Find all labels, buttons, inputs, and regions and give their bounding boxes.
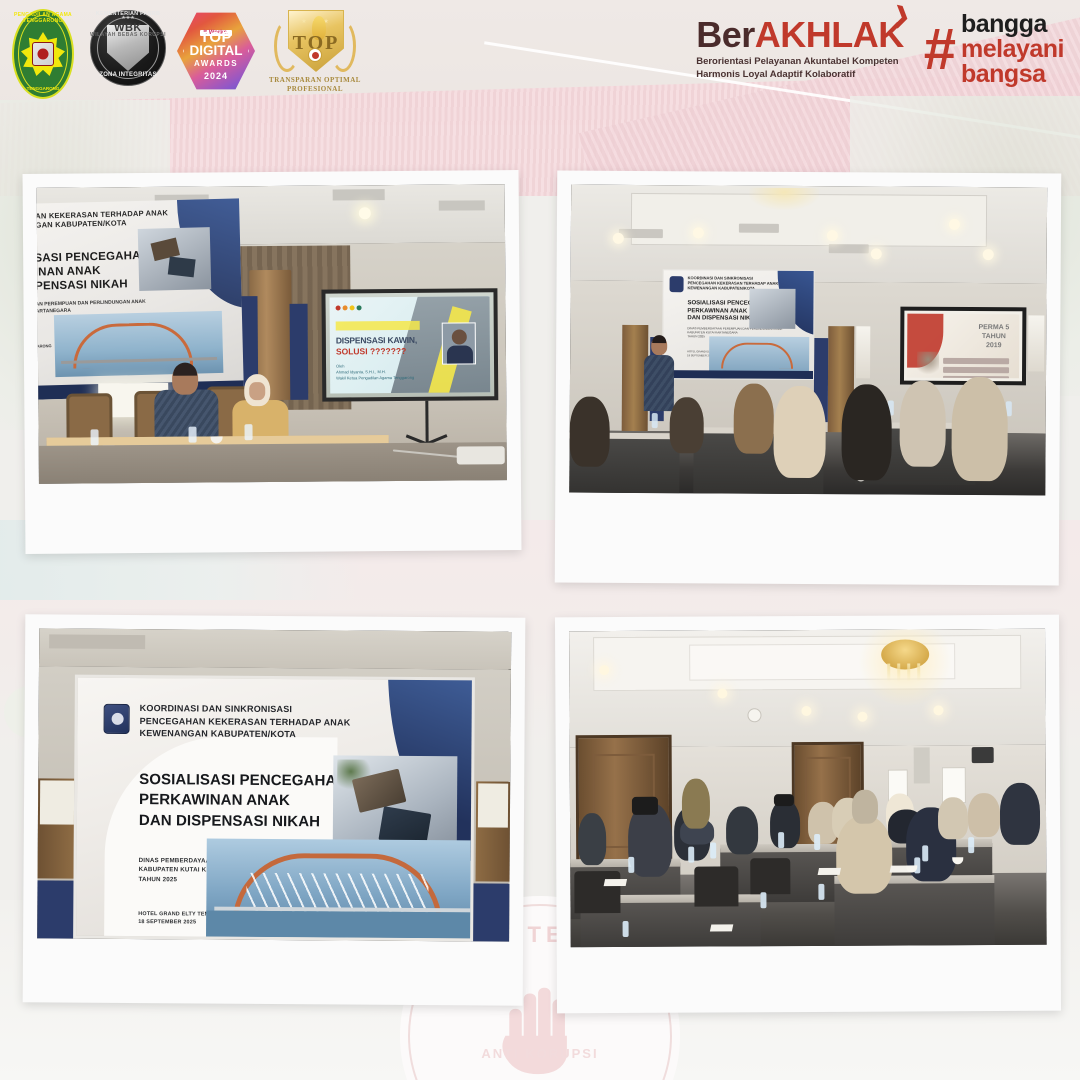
banner-title-main: SOSIALISASI PENCEGAHANPERKAWINAN ANAKDAN… — [139, 770, 347, 832]
ceiling-light — [599, 665, 609, 675]
award-line3: AWARDS — [174, 59, 258, 68]
slide-line2: TAHUN — [982, 333, 1006, 340]
slide-line1: PERMA 5 — [978, 324, 1009, 331]
ceiling-light — [359, 207, 371, 219]
top-digital-awards-badge: It Works. TOP DIGITAL AWARDS 2024 — [174, 8, 258, 100]
wall-speaker — [972, 747, 994, 763]
blue-panel-right — [471, 883, 509, 941]
emblem-bottom-text: TENGGARONG — [4, 86, 82, 91]
speaker-body — [644, 355, 674, 411]
attendee-seated — [951, 377, 1008, 481]
header-logo-bar: PENGADILAN AGAMA TENGGARONG TENGGARONG K… — [0, 0, 1080, 108]
berakhlak-logo: BerAKHLAK❯ Berorientasi Pelayanan Akunta… — [696, 17, 904, 82]
bangga-word2: melayani — [961, 37, 1064, 62]
ceiling-vent — [439, 200, 485, 210]
speaker-head — [172, 365, 198, 395]
ceiling-light — [933, 705, 943, 715]
water-bottle — [760, 892, 766, 908]
gold-sub-line2: PROFESIONAL — [262, 85, 368, 93]
side-light-left — [40, 780, 74, 824]
water-bottle — [688, 847, 694, 863]
ceiling-light — [949, 219, 960, 230]
standing-speaker — [644, 337, 674, 411]
presentation-slide: DISPENSASI KAWIN, SOLUSI ??????? OlehAhm… — [329, 296, 490, 393]
water-bottle — [710, 842, 716, 858]
attendee-seated — [938, 797, 968, 839]
emblem-top-text: PENGADILAN AGAMA TENGGARONG — [4, 12, 82, 24]
bangga-word3: bangsa — [961, 62, 1064, 87]
slide-scales-icon — [917, 352, 939, 378]
attendee-seated — [726, 806, 758, 854]
side-table-equipment — [457, 446, 505, 464]
paper-note — [710, 924, 733, 931]
banner-venue-text: ARONG — [37, 343, 52, 348]
water-bottle — [91, 429, 99, 445]
slide-bullet-bar — [943, 367, 1009, 373]
wbk-zona-integritas-badge: KEMENTERIAN PANRB ★★★ WBK WILAYAH BEBAS … — [86, 8, 170, 100]
slide-line1: DISPENSASI KAWIN, — [336, 335, 417, 346]
attendee-seated — [899, 381, 946, 467]
gold-sub-line1: TRANSPARAN OPTIMAL — [262, 76, 368, 84]
bridge-water — [206, 911, 470, 939]
attendee-seated — [852, 790, 878, 824]
slide-line3: 2019 — [986, 342, 1002, 349]
bangga-words: bangga melayani bangsa — [961, 12, 1064, 87]
ceiling-vent — [619, 229, 663, 238]
banner-document-photo — [138, 227, 212, 291]
water-bottle — [652, 413, 658, 428]
slide-bullet-bar — [943, 358, 1009, 364]
attendee-cap — [774, 794, 794, 806]
ceiling-light — [717, 688, 727, 698]
ceiling-light — [827, 230, 838, 241]
ceiling-vent — [829, 244, 869, 253]
award-line2: DIGITAL — [174, 44, 258, 58]
photo-1-backdrop-banner: AN KEKERASAN TERHADAP ANAKGAN KABUPATEN/… — [37, 198, 244, 399]
water-bottle — [968, 837, 974, 853]
banner-bridge-photo — [206, 839, 471, 939]
air-conditioner — [914, 747, 930, 783]
attendee-standing — [1000, 783, 1040, 845]
projector-screen: DISPENSASI KAWIN, SOLUSI ??????? OlehAhm… — [321, 288, 498, 401]
banner-book-2 — [168, 256, 196, 277]
wbk-center-sub: WILAYAH BEBAS KORUPSI — [86, 32, 170, 38]
attendee-seated — [578, 813, 606, 865]
slide-title: PERMA 5 TAHUN 2019 — [978, 324, 1009, 350]
slide-dot — [336, 305, 341, 310]
water-bottle — [189, 427, 197, 443]
attendee-seated — [773, 386, 826, 478]
emblem-center-crest — [32, 42, 54, 66]
photo-2-backdrop-banner: KOORDINASI DAN SINKRONISASIPENCEGAHAN KE… — [662, 269, 815, 380]
berakhlak-prefix: Ber — [696, 14, 755, 55]
chandelier-crystal — [897, 664, 900, 682]
paper-note — [604, 879, 627, 886]
water-bottle — [778, 832, 784, 848]
ceiling-vent — [739, 224, 779, 233]
ceiling-light — [801, 706, 811, 716]
window — [856, 326, 870, 378]
chandelier-glow — [749, 188, 819, 210]
projector-screen: PERMA 5 TAHUN 2019 — [900, 307, 1026, 386]
blue-panel-left — [37, 880, 75, 938]
chair — [694, 866, 738, 906]
award-year: 2024 — [174, 71, 258, 81]
photo-card-2[interactable]: KOORDINASI DAN SINKRONISASIPENCEGAHAN KE… — [555, 170, 1062, 585]
photo-card-3[interactable]: KOORDINASI DAN SINKRONISASIPENCEGAHAN KE… — [23, 614, 526, 1005]
chandelier — [869, 633, 941, 689]
chandelier-crystal — [907, 663, 910, 681]
ceiling-light — [871, 248, 882, 259]
moderator-face — [249, 382, 265, 400]
slide-presenter-photo — [442, 322, 476, 364]
berakhlak-main: AKHLAK — [755, 14, 904, 55]
attendee-seated — [770, 800, 800, 848]
water-bottle — [818, 884, 824, 900]
water-bottle — [814, 834, 820, 850]
photo-card-1[interactable]: AN KEKERASAN TERHADAP ANAKGAN KABUPATEN/… — [23, 170, 522, 554]
attendee-cap — [632, 797, 658, 815]
banner-title-main: SASI PENCEGAHANINAN ANAKPENSASI NIKAH — [37, 249, 150, 294]
banner-bottom-bar — [663, 370, 813, 379]
attendee-seated — [841, 384, 892, 480]
attendee-seated — [569, 397, 609, 467]
chandelier-crystal — [917, 663, 920, 681]
wbk-bottom-text: ZONA INTEGRITAS — [86, 72, 170, 78]
slide-line2: SOLUSI ??????? — [336, 346, 406, 357]
banner-title-small: AN KEKERASAN TERHADAP ANAKGAN KABUPATEN/… — [37, 208, 169, 230]
wall-clock — [747, 708, 761, 722]
chandelier-crystal — [887, 664, 890, 682]
banner-bridge-photo — [54, 311, 224, 377]
top-transparan-badge: ★ ★ ★ TOP TRANSPARAN OPTIMAL PROFESIONAL — [262, 4, 368, 104]
slide-byline: OlehAhmad Idyanta, S.H.I., M.H.Wakil Ket… — [336, 363, 414, 382]
berakhlak-values: Berorientasi Pelayanan Akuntabel Kompete… — [696, 56, 904, 82]
attendee-standing — [682, 779, 710, 829]
attendee-seated-front — [836, 816, 892, 894]
branding-group: BerAKHLAK❯ Berorientasi Pelayanan Akunta… — [696, 12, 1064, 87]
photo-3-image: KOORDINASI DAN SINKRONISASIPENCEGAHAN KE… — [37, 628, 511, 941]
pengadilan-agama-emblem: PENGADILAN AGAMA TENGGARONG TENGGARONG — [4, 6, 82, 102]
certification-badges-group: PENGADILAN AGAMA TENGGARONG TENGGARONG K… — [4, 4, 368, 104]
berakhlak-values-line1: Berorientasi Pelayanan Akuntabel Kompete… — [696, 56, 904, 69]
slide-logo-dots — [336, 305, 362, 310]
slide-dot — [350, 305, 355, 310]
side-light-right — [478, 783, 508, 827]
bangga-word1: bangga — [961, 12, 1064, 37]
presenter-suit — [447, 345, 473, 363]
photo-4-image — [569, 629, 1047, 947]
chair — [574, 871, 620, 913]
chair — [750, 858, 790, 894]
ceiling-light — [693, 227, 704, 238]
water-bottle — [628, 857, 634, 873]
ceiling-light — [857, 712, 867, 722]
slide-dot — [343, 305, 348, 310]
wbk-stars-icon: ★★★ — [86, 15, 170, 21]
photo-card-4[interactable] — [555, 615, 1061, 1014]
window — [1028, 315, 1044, 371]
ceiling-vent — [49, 634, 145, 649]
photo-1-image: AN KEKERASAN TERHADAP ANAKGAN KABUPATEN/… — [37, 184, 507, 484]
blue-wall-panel — [290, 304, 309, 400]
slide-highlight-bar — [336, 321, 420, 331]
water-bottle — [244, 424, 252, 440]
ceiling — [39, 628, 511, 669]
banner-logo-icon — [670, 276, 684, 292]
ceiling-vent — [333, 189, 385, 200]
ceiling-light — [983, 249, 994, 260]
attendee-seated — [968, 793, 1000, 837]
berakhlak-arrow-icon: ❯ — [890, 4, 912, 29]
slide-dot — [357, 305, 362, 310]
photo-3-backdrop-banner: KOORDINASI DAN SINKRONISASIPENCEGAHAN KE… — [73, 675, 475, 942]
speaker-head — [651, 337, 667, 355]
hashtag-icon: # — [924, 25, 953, 74]
photo-2-image: KOORDINASI DAN SINKRONISASIPENCEGAHAN KE… — [569, 185, 1047, 496]
paper-note — [818, 868, 841, 875]
banner-bridge-photo — [709, 336, 809, 375]
photo-gallery: AN KEKERASAN TERHADAP ANAKGAN KABUPATEN/… — [0, 0, 1080, 1080]
berakhlak-values-line2: Harmonis Loyal Adaptif Kolaboratif — [696, 69, 904, 82]
water-bottle — [922, 845, 928, 861]
ceiling-light — [613, 233, 624, 244]
water-bottle — [623, 921, 629, 937]
banner-title-small: KOORDINASI DAN SINKRONISASIPENCEGAHAN KE… — [139, 702, 350, 741]
berakhlak-wordmark: BerAKHLAK❯ — [696, 17, 904, 53]
attendee-seated — [734, 384, 774, 454]
banner-logo-icon — [104, 704, 130, 734]
attendee-seated — [670, 397, 704, 453]
bangga-melayani-bangsa-logo: # bangga melayani bangsa — [924, 12, 1064, 87]
gold-center-dot — [308, 48, 322, 62]
banner-document-photo — [749, 289, 795, 329]
floor — [39, 442, 507, 484]
presentation-slide: PERMA 5 TAHUN 2019 — [907, 314, 1019, 379]
bridge-arch — [721, 342, 793, 368]
